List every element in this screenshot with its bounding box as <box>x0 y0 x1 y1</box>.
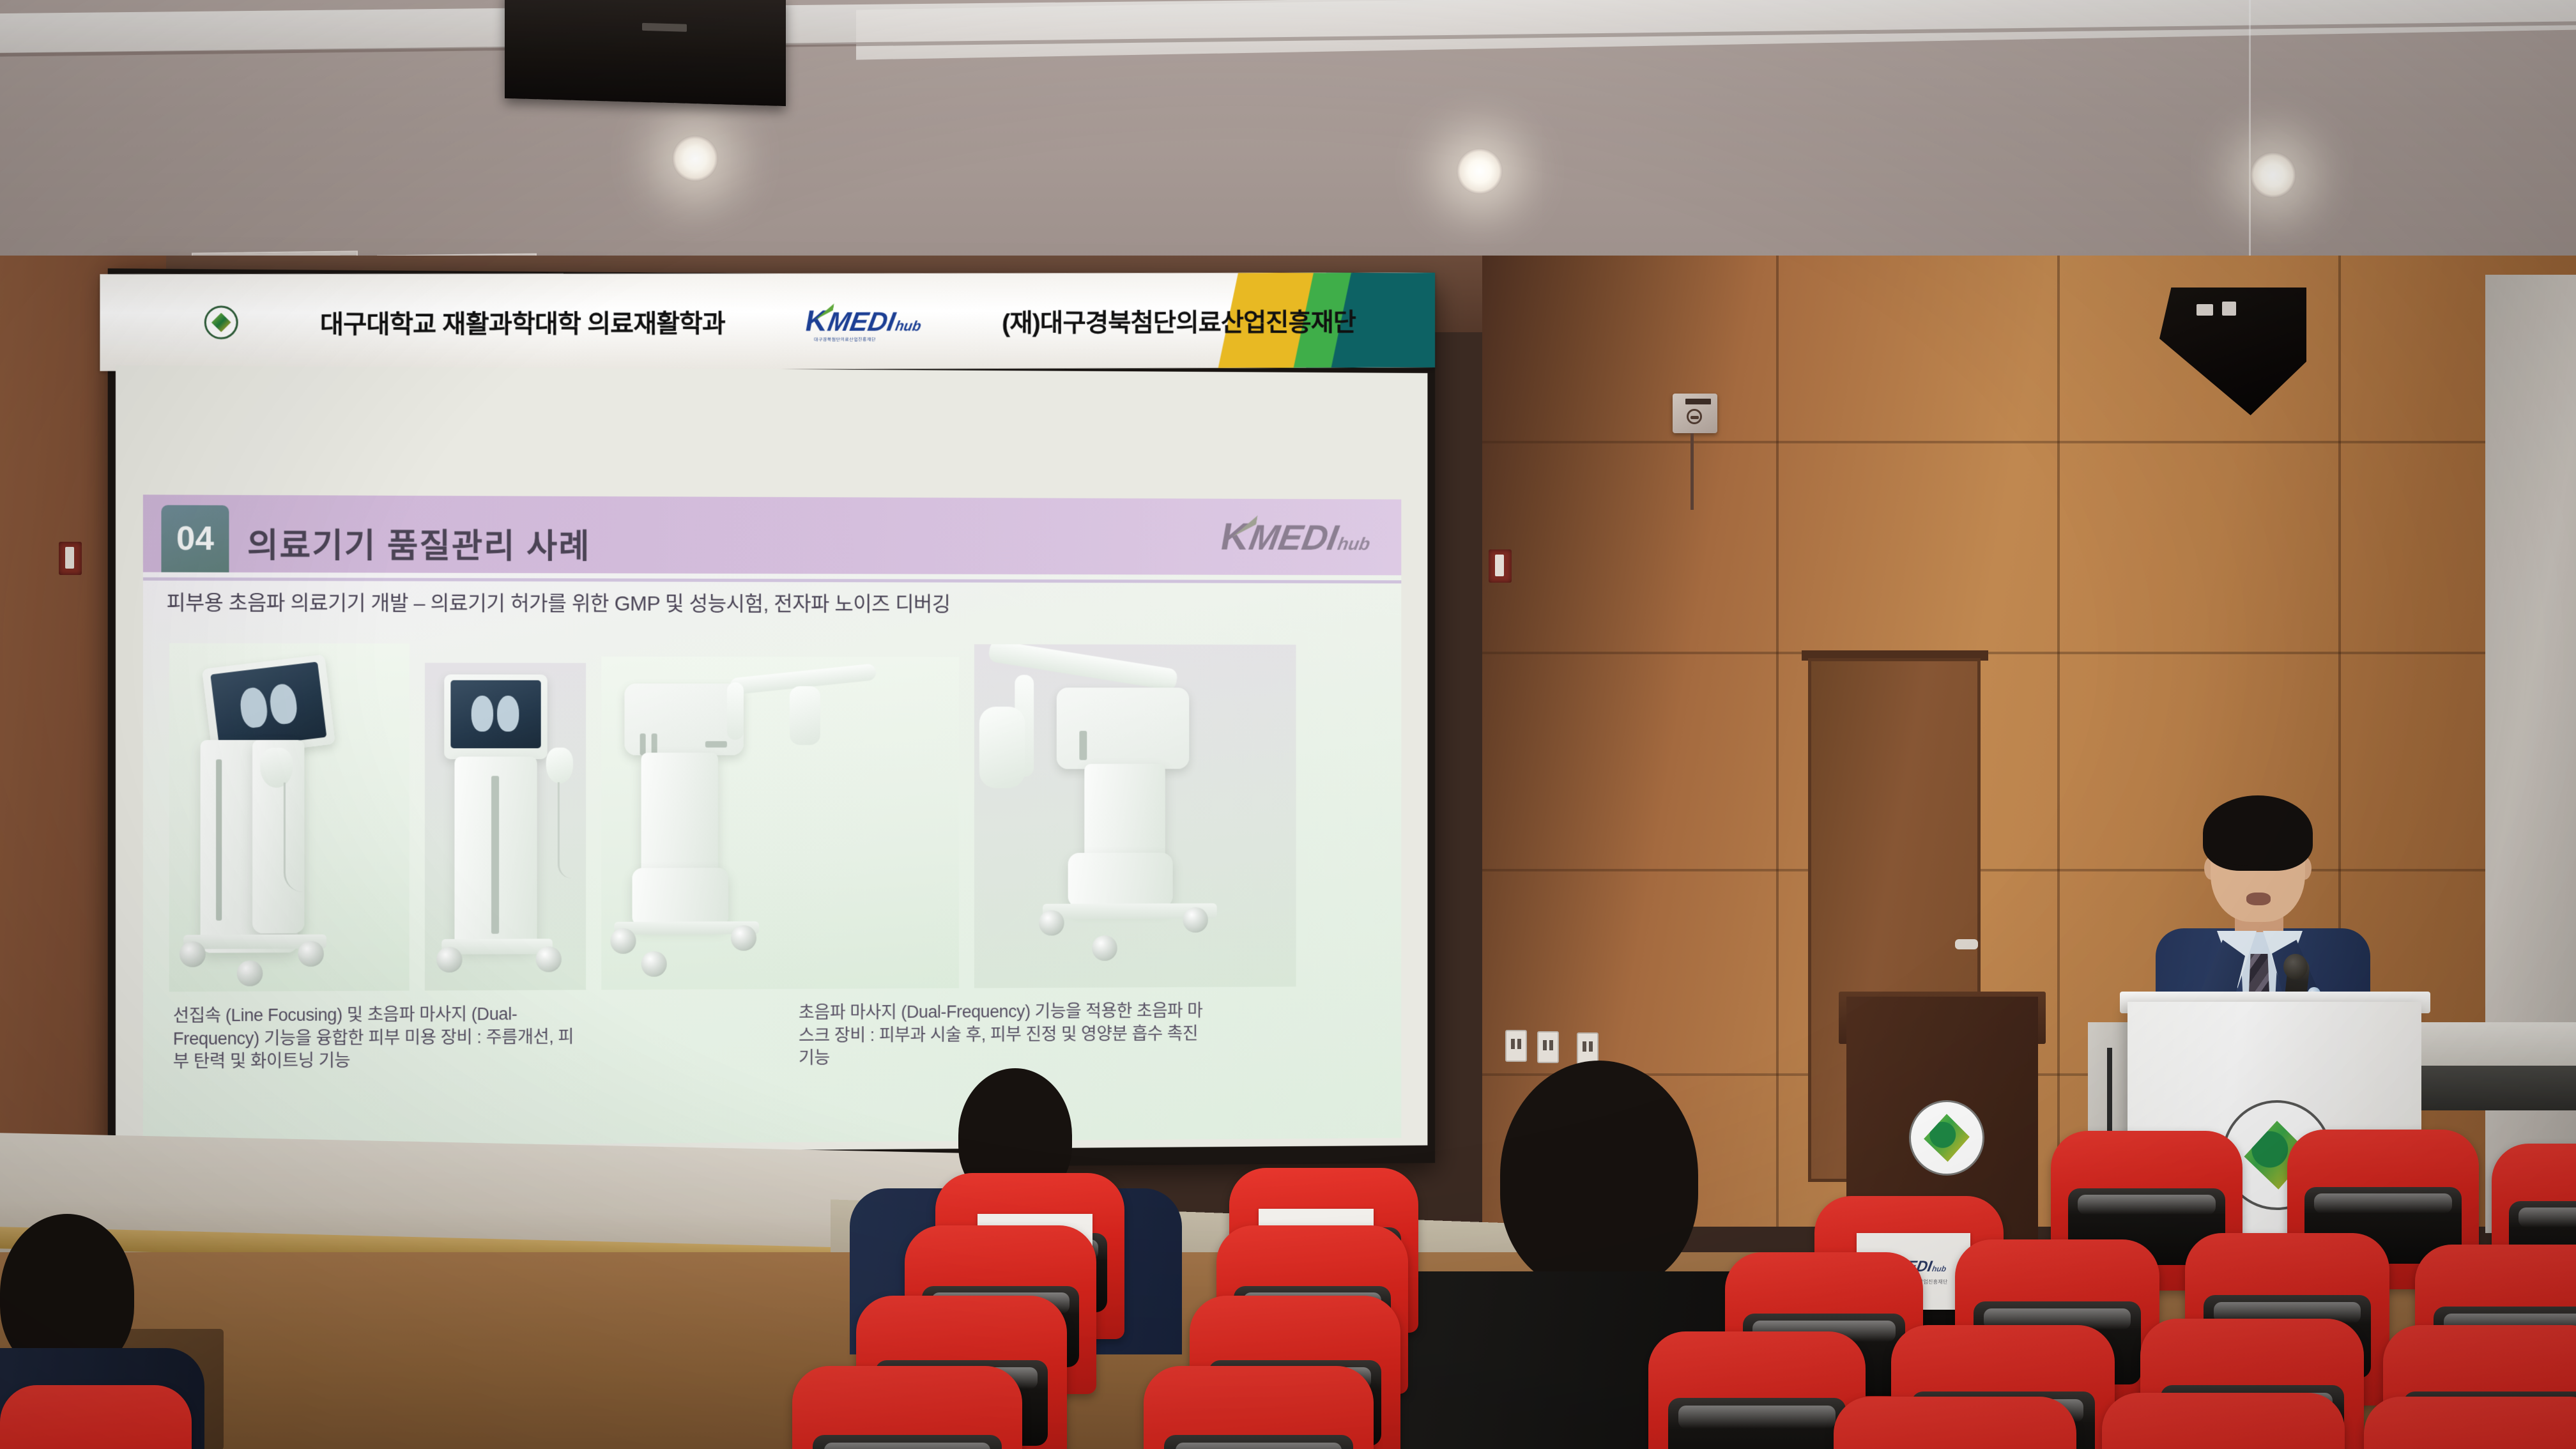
card-logo-hub: hub <box>1931 1264 1947 1273</box>
slide-captions: 선집속 (Line Focusing) 및 초음파 마사지 (Dual-Freq… <box>173 999 1374 1074</box>
slide-device-images <box>169 631 1383 992</box>
emblem-art <box>1922 1113 1972 1163</box>
device-light-strip <box>216 760 222 921</box>
slide-caption-right: 초음파 마사지 (Dual-Frequency) 기능을 적용한 초음파 마스크… <box>799 1000 1204 1070</box>
slide-title: 의료기기 품질관리 사례 <box>247 518 591 567</box>
device-cable <box>558 782 572 878</box>
seat[interactable] <box>2102 1393 2345 1449</box>
device-screen <box>210 662 326 750</box>
device-light-strip <box>491 776 499 933</box>
banner-right-org-label: (재)대구경북첨단의료산업진흥재단 <box>1002 302 1356 339</box>
podium-aux-table <box>2421 1022 2576 1069</box>
device-port-1 <box>640 733 646 755</box>
device-port-2 <box>652 733 657 755</box>
device-image-3 <box>601 657 959 990</box>
projection-screen-frame: 대구대학교 재활과학대학 의료재활학과 K MEDI hub 대구경북첨단의료산… <box>108 268 1435 1173</box>
presentation-slide: 04 의료기기 품질관리 사례 K MEDI hub 피부용 초음파 의료기기 … <box>143 494 1401 1147</box>
seat[interactable] <box>792 1366 1022 1449</box>
device-lower-body <box>1068 853 1173 908</box>
device-wheel-2 <box>536 946 562 972</box>
device-lower-body <box>632 868 728 927</box>
slide-kmedi-logo-icon: K MEDI hub <box>1218 516 1375 558</box>
seat-headrest <box>813 1435 1001 1449</box>
panel-brand-label <box>1685 399 1711 404</box>
device-wheel-2 <box>298 941 324 967</box>
banner-left-org-label: 대구대학교 재활과학대학 의료재활학과 <box>320 303 725 341</box>
presenter-hair <box>2203 795 2313 871</box>
kmedi-hub-logo-icon: K MEDI hub 대구경북첨단의료산업진흥재단 <box>802 305 924 337</box>
device-cable <box>284 783 303 892</box>
speaker-mount <box>2222 302 2236 316</box>
projection-screen-surface: 04 의료기기 품질관리 사례 K MEDI hub 피부용 초음파 의료기기 … <box>116 365 1427 1155</box>
device-screen-face-left <box>471 696 493 732</box>
slide-divider <box>143 578 1401 584</box>
device-image-1 <box>169 643 410 992</box>
speaker-port <box>2196 304 2213 316</box>
wall-outlet-3[interactable] <box>1577 1032 1598 1064</box>
device-wheel-3 <box>237 960 263 986</box>
presenter-mouth <box>2246 893 2271 905</box>
auditorium-photo: 대구대학교 재활과학대학 의료재활학과 K MEDI hub 대구경북첨단의료산… <box>0 0 2576 1449</box>
wall-fixture-right-icon <box>1489 549 1512 583</box>
panel-knob-icon[interactable] <box>1687 409 1702 424</box>
device-wheel-1 <box>180 941 206 967</box>
wall-outlet-1[interactable] <box>1505 1030 1527 1062</box>
device-wheel-1 <box>1039 910 1064 936</box>
seat[interactable] <box>0 1385 192 1449</box>
device-image-2 <box>425 663 586 990</box>
device-head-unit <box>1057 687 1189 769</box>
wall-outlet-2[interactable] <box>1537 1031 1559 1063</box>
device-screen-face-right <box>497 696 519 732</box>
microphone-head-icon <box>2283 954 2308 979</box>
device-wheel-2 <box>1183 907 1207 933</box>
device-screen <box>450 680 540 749</box>
device-wheel-3 <box>1092 935 1117 961</box>
ceiling-band-secondary <box>856 0 2576 60</box>
podium-aux-table-shadow <box>2421 1066 2576 1110</box>
device-handpiece <box>546 747 573 783</box>
wall-fixture-left-icon <box>59 542 82 575</box>
wall-control-panel[interactable] <box>1673 394 1717 433</box>
seat[interactable] <box>1648 1331 1866 1449</box>
device-wheel-1 <box>436 947 462 972</box>
device-port <box>1079 731 1087 760</box>
device-arm-joint <box>727 682 744 740</box>
device-mask-handpiece <box>979 707 1025 788</box>
ceiling-hairline <box>2249 0 2251 275</box>
wood-seam <box>1482 652 2576 654</box>
ceiling-downlight-3 <box>2250 152 2296 198</box>
slide-logo-hub: hub <box>1336 534 1372 555</box>
ceiling-downlight-2 <box>1457 148 1503 194</box>
device-screen-face-right <box>268 683 299 726</box>
speaker-label <box>642 23 687 32</box>
panel-cable <box>1690 433 1694 510</box>
ceiling-speaker-icon <box>505 0 786 106</box>
kmedi-logo-hub: hub <box>894 318 923 334</box>
door-handle-icon[interactable] <box>1955 939 1978 949</box>
device-display-bezel <box>444 675 547 760</box>
kmedi-logo-k: K <box>803 305 829 335</box>
kmedi-logo-subtitle: 대구경북첨단의료산업진흥재단 <box>814 336 876 342</box>
seat[interactable] <box>1834 1397 2076 1449</box>
wood-seam <box>1776 256 1779 1227</box>
wood-seam <box>1482 441 2576 443</box>
seat-headrest <box>1164 1435 1353 1449</box>
wood-seam <box>1482 869 2576 871</box>
ceiling <box>0 0 2576 275</box>
seat[interactable] <box>2364 1397 2576 1449</box>
device-wheel-3 <box>641 951 667 977</box>
slide-section-number: 04 <box>161 505 229 572</box>
device-wheel-1 <box>610 928 636 954</box>
ceiling-downlight-1 <box>672 135 718 181</box>
lectern-university-emblem-icon <box>1909 1100 1984 1176</box>
seat-headrest <box>1668 1398 1846 1449</box>
device-handpiece-holder <box>260 747 293 788</box>
emblem-art <box>211 313 231 332</box>
seat[interactable] <box>1144 1366 1374 1449</box>
slide-logo-medi: MEDI <box>1246 517 1342 558</box>
device-screen-face-left <box>238 686 269 729</box>
slide-subtitle: 피부용 초음파 의료기기 개발 – 의료기기 허가를 위한 GMP 및 성능시험… <box>167 586 951 618</box>
event-banner: 대구대학교 재활과학대학 의료재활학과 K MEDI hub 대구경북첨단의료산… <box>100 273 1435 371</box>
wood-seam <box>2057 256 2060 1227</box>
device-wheel-2 <box>731 925 756 951</box>
audience-head-center <box>1500 1061 1698 1291</box>
device-hanging-handpiece <box>790 686 820 745</box>
device-image-4 <box>974 644 1296 988</box>
kmedi-logo-medi: MEDI <box>825 306 898 337</box>
daegu-university-emblem-icon <box>204 305 238 339</box>
device-slot <box>705 741 727 747</box>
slide-caption-left: 선집속 (Line Focusing) 및 초음파 마사지 (Dual-Freq… <box>173 1002 587 1073</box>
